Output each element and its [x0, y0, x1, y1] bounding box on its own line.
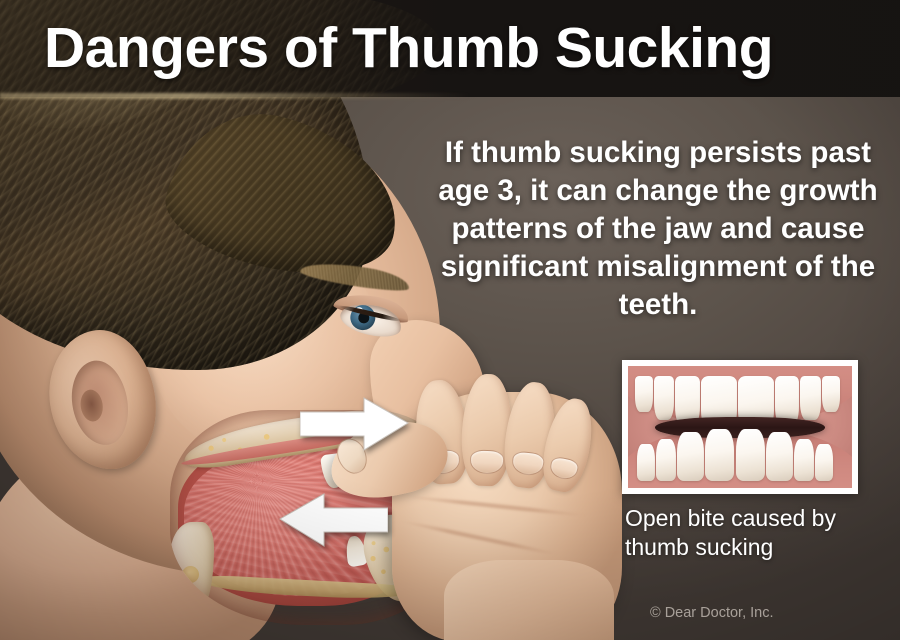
lower-tooth — [766, 432, 793, 481]
copyright-notice: © Dear Doctor, Inc. — [650, 604, 774, 622]
title-bar: Dangers of Thumb Sucking — [0, 0, 900, 97]
lower-tooth — [736, 429, 765, 480]
title-bar-lower-edge — [0, 93, 470, 99]
open-bite-photo — [628, 366, 852, 488]
page-title: Dangers of Thumb Sucking — [44, 12, 773, 84]
poster: Open bite caused by thumb sucking If thu… — [0, 0, 900, 640]
upper-tooth — [822, 376, 840, 413]
upper-tooth — [654, 376, 674, 420]
upper-tooth — [800, 376, 820, 420]
lower-tooth — [637, 444, 655, 481]
lower-tooth — [677, 432, 704, 481]
lower-tooth — [656, 439, 676, 480]
lower-tooth — [705, 429, 734, 480]
lower-tooth — [794, 439, 814, 480]
inset-caption: Open bite caused by thumb sucking — [625, 504, 885, 562]
open-bite-inset — [622, 360, 858, 494]
upper-tooth — [635, 376, 653, 413]
body-text: If thumb sucking persists past age 3, it… — [432, 134, 884, 324]
lower-tooth — [815, 444, 833, 481]
